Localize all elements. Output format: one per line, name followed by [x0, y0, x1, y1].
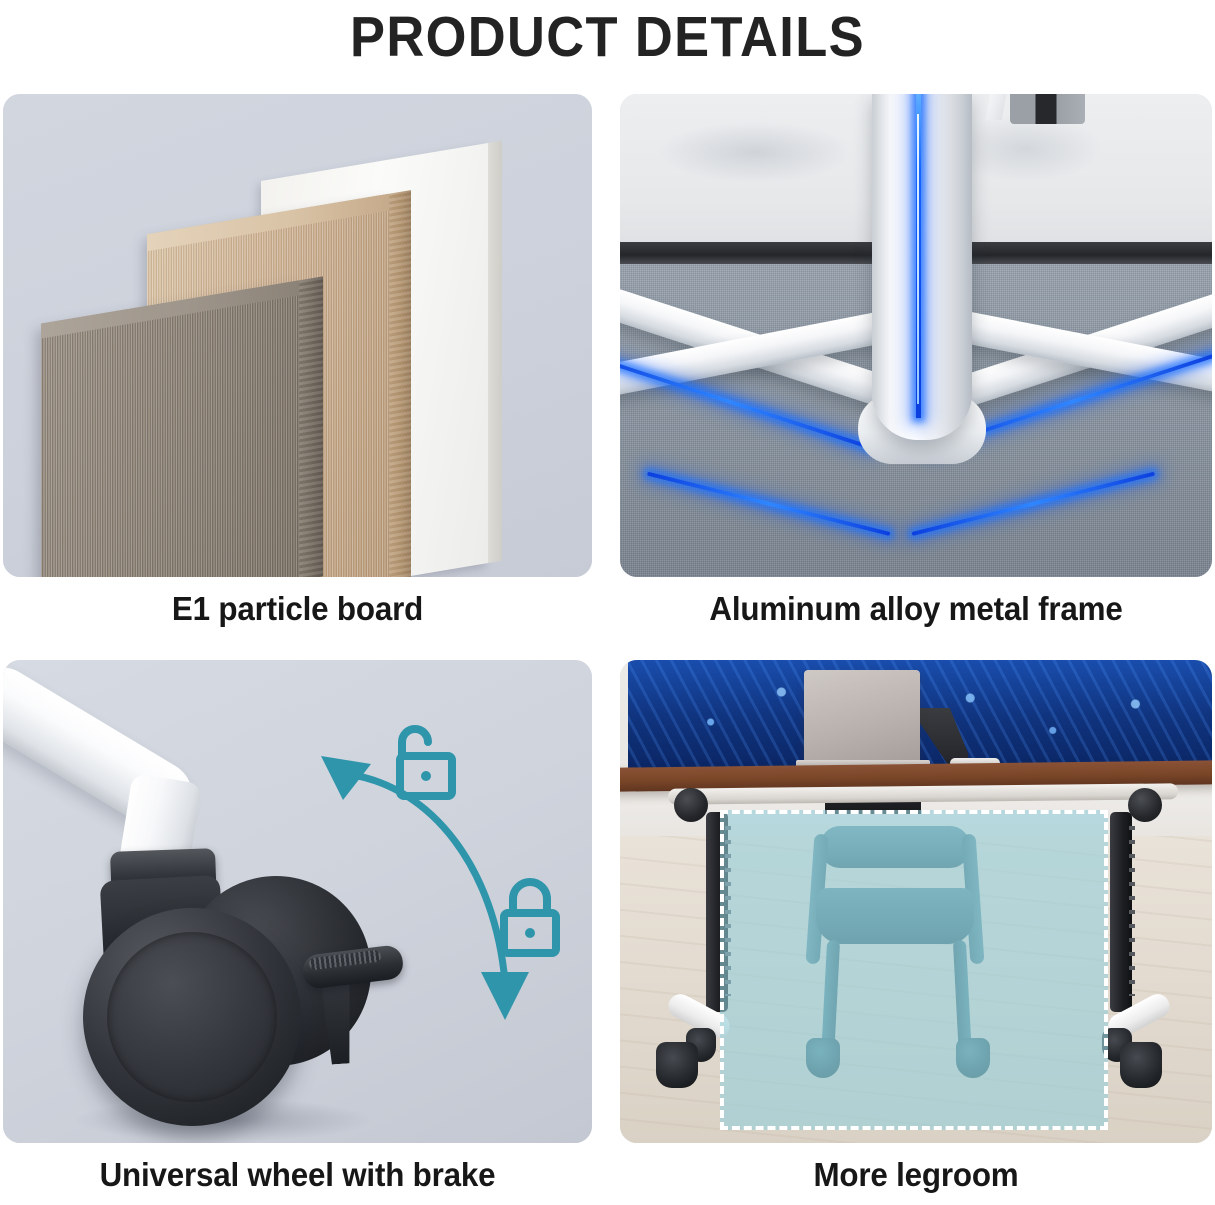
table-leg-right-notches: [1129, 826, 1135, 996]
caption-universal-wheel: Universal wheel with brake: [18, 1152, 578, 1198]
caption-particle-board: E1 particle board: [18, 586, 578, 632]
panel-more-legroom: [620, 660, 1212, 1143]
gray-board-edge: [299, 276, 323, 577]
panel-metal-frame: [620, 94, 1212, 577]
lock-icon: [495, 875, 565, 966]
monitor-block: [1010, 94, 1085, 124]
white-board-edge: [488, 141, 502, 563]
gray-board-sample: [41, 280, 299, 577]
page-title: PRODUCT DETAILS: [49, 0, 1167, 76]
wall-shadow-left: [660, 122, 850, 182]
center-column: [872, 94, 972, 440]
unlock-icon: [388, 722, 462, 809]
table-leg-right: [1110, 812, 1132, 1012]
legroom-highlight: [720, 810, 1108, 1130]
table-knob-right[interactable]: [1128, 788, 1162, 822]
panel-particle-board: [3, 94, 592, 577]
table-caster-right: [1120, 1042, 1162, 1088]
blue-glow-column-core: [917, 114, 919, 404]
table-caster-left: [656, 1042, 698, 1088]
wall-shadow-right: [950, 116, 1100, 181]
table-knob-left[interactable]: [674, 788, 708, 822]
oak-board-edge: [389, 190, 411, 577]
panel-universal-wheel: [3, 660, 592, 1143]
caption-metal-frame: Aluminum alloy metal frame: [635, 586, 1197, 632]
caster-wheel-front: [83, 908, 301, 1126]
product-details-infographic: PRODUCT DETAILS E1 particle board: [0, 0, 1215, 1205]
laptop: [804, 670, 920, 766]
caption-more-legroom: More legroom: [635, 1152, 1197, 1198]
